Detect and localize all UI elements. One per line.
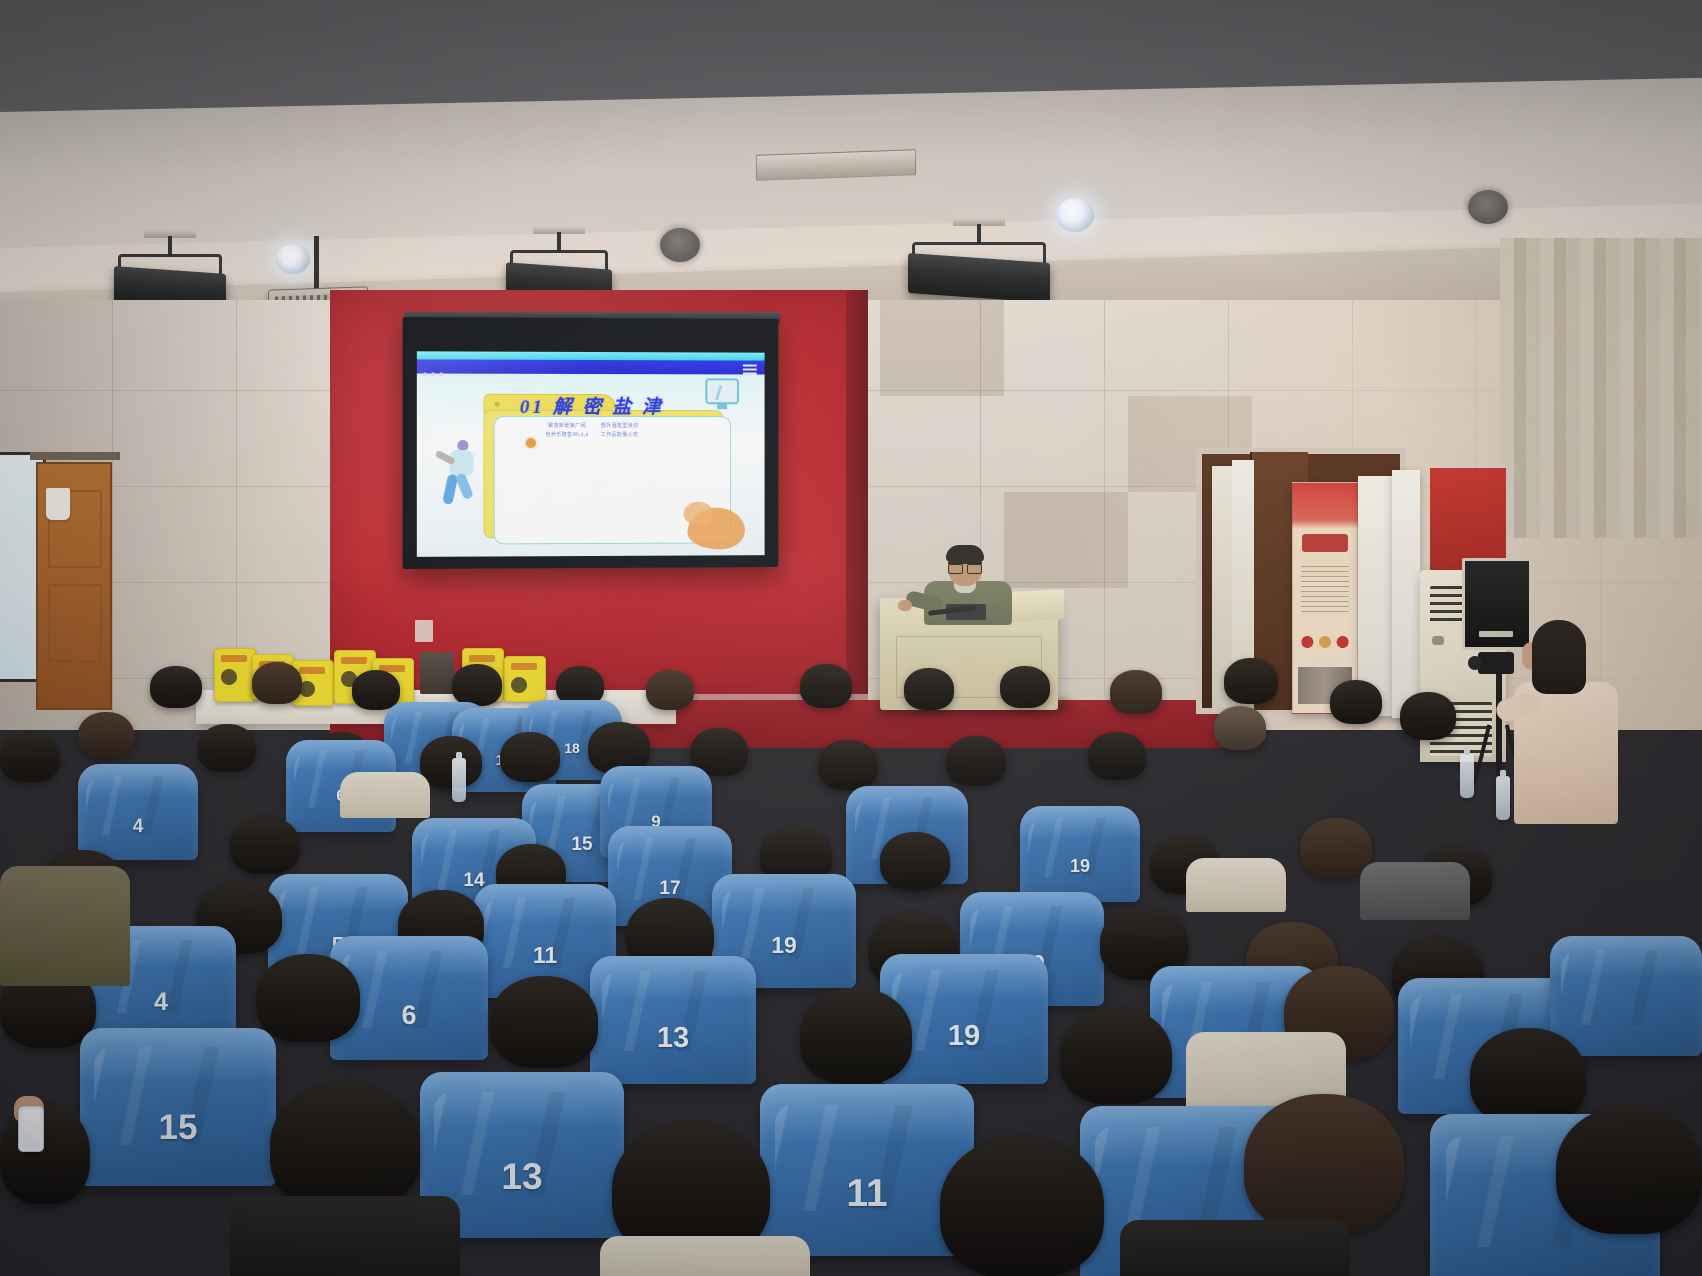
audience-head bbox=[800, 988, 912, 1084]
dot-2-icon bbox=[431, 373, 435, 377]
seat-number: 6 bbox=[401, 1000, 416, 1031]
projection-screen: 01 解 密 盐 津 聚落新景第广阔 包养乐赔售Wi,s,a 部外酒馆里浪动 工… bbox=[403, 317, 779, 569]
seat-number: 15 bbox=[159, 1108, 198, 1148]
water-bottle bbox=[1460, 754, 1474, 798]
audience-head bbox=[252, 662, 302, 704]
presenter-hand bbox=[898, 600, 912, 611]
audience-head bbox=[0, 732, 60, 782]
seat-number: 11 bbox=[846, 1172, 887, 1216]
glasses-icon bbox=[948, 562, 982, 570]
audience-head bbox=[452, 664, 502, 706]
projector-rod bbox=[314, 236, 319, 294]
audience-shoulder bbox=[600, 1236, 810, 1276]
audience-shoulder bbox=[1120, 1220, 1350, 1276]
audience-head bbox=[1330, 680, 1382, 724]
audience-head bbox=[1556, 1106, 1702, 1234]
orange-blob-graphic bbox=[684, 502, 714, 526]
audience-head bbox=[500, 732, 560, 782]
audience-head bbox=[352, 670, 400, 710]
poster-text-lines bbox=[1301, 566, 1350, 617]
audience-head bbox=[880, 832, 950, 890]
seat-number: 13 bbox=[657, 1022, 689, 1055]
light-stem bbox=[557, 232, 561, 252]
audience-head bbox=[490, 976, 598, 1068]
recessed-downlight bbox=[276, 244, 310, 274]
seat-number: 19 bbox=[948, 1020, 980, 1053]
audience-head bbox=[1088, 732, 1146, 780]
window-dots bbox=[423, 372, 443, 376]
slide-browser-titlebar bbox=[417, 359, 765, 374]
audience-head bbox=[230, 816, 300, 874]
recessed-downlight bbox=[1056, 198, 1094, 232]
audience-head bbox=[800, 664, 852, 708]
seat[interactable] bbox=[1550, 936, 1702, 1056]
wall-tile-shade bbox=[880, 300, 1004, 396]
audience-head bbox=[0, 1104, 90, 1204]
slide-subtitle: 聚落新景第广阔 包养乐赔售Wi,s,a 部外酒馆里浪动 工作品能量心忠 bbox=[417, 422, 765, 438]
audience-head bbox=[1000, 666, 1050, 708]
seat-number: 4 bbox=[154, 988, 168, 1017]
slide-subtitle-line-1: 聚落新景第广阔 bbox=[545, 422, 588, 429]
door-frame-header bbox=[30, 452, 120, 460]
audience-head bbox=[946, 736, 1006, 786]
water-bottle bbox=[1496, 776, 1510, 820]
seat-number: 19 bbox=[1070, 856, 1090, 877]
seat[interactable]: 15 bbox=[80, 1028, 276, 1186]
seat-number: 13 bbox=[501, 1156, 542, 1198]
slide-title: 01 解 密 盐 津 bbox=[417, 392, 765, 420]
audience-head bbox=[1300, 818, 1372, 878]
audience-head bbox=[1244, 1094, 1404, 1234]
audience-head bbox=[1060, 1008, 1172, 1104]
presenter-hair bbox=[946, 545, 984, 562]
projected-slide-area: 01 解 密 盐 津 聚落新景第广阔 包养乐赔售Wi,s,a 部外酒馆里浪动 工… bbox=[417, 351, 765, 557]
seat[interactable]: 4 bbox=[78, 764, 198, 860]
orange-dot-bullet bbox=[526, 438, 536, 448]
presentation-slide: 01 解 密 盐 津 聚落新景第广阔 包养乐赔售Wi,s,a 部外酒馆里浪动 工… bbox=[417, 351, 765, 557]
seat-number: 15 bbox=[571, 834, 592, 856]
audience-head bbox=[904, 668, 954, 710]
seat-number: 17 bbox=[659, 878, 680, 900]
hamburger-menu-icon bbox=[743, 365, 757, 375]
audience-head bbox=[420, 736, 482, 788]
dot-3-icon bbox=[439, 373, 443, 377]
audience-shoulder bbox=[230, 1196, 460, 1276]
audience-head bbox=[1470, 1028, 1586, 1126]
window-curtain bbox=[1500, 238, 1702, 538]
audience-head bbox=[150, 666, 202, 708]
audience-shoulder bbox=[1186, 858, 1286, 912]
light-stem bbox=[168, 236, 172, 256]
running-person-graphic bbox=[437, 440, 477, 514]
slide-subtitle-line-3: 包养乐赔售Wi,s,a bbox=[545, 431, 588, 438]
water-bottle bbox=[452, 758, 466, 802]
audience-head bbox=[940, 1136, 1104, 1276]
slide-subtitle-line-2: 部外酒馆里浪动 bbox=[601, 422, 639, 429]
audience-head bbox=[1110, 670, 1162, 714]
poster-badge bbox=[1302, 534, 1348, 552]
audience-shoulder bbox=[340, 772, 430, 818]
audience-head bbox=[818, 740, 878, 790]
audience-head bbox=[198, 724, 256, 772]
smartphone bbox=[18, 1106, 44, 1152]
auditorium-photo: 01 解 密 盐 津 聚落新景第广阔 包养乐赔售Wi,s,a 部外酒馆里浪动 工… bbox=[0, 0, 1702, 1276]
audience-seating-area: 11 15 18 6 15 9 5 bbox=[0, 636, 1702, 1276]
seat-number: 4 bbox=[133, 816, 144, 838]
audience-head bbox=[1400, 692, 1456, 740]
recessed-downlight bbox=[1468, 190, 1508, 224]
recessed-downlight bbox=[660, 228, 700, 262]
audience-shoulder bbox=[0, 866, 130, 986]
slide-subtitle-line-4: 工作品能量心忠 bbox=[601, 431, 639, 438]
audience-head bbox=[1224, 658, 1278, 704]
seat[interactable]: 19 bbox=[1020, 806, 1140, 902]
dot-1-icon bbox=[423, 372, 427, 376]
audience-head bbox=[78, 712, 134, 758]
seat-number: 19 bbox=[771, 932, 797, 959]
audience-shoulder bbox=[1360, 862, 1470, 920]
light-stem bbox=[977, 224, 981, 244]
phone-screen bbox=[22, 1110, 40, 1148]
audience-head bbox=[1214, 706, 1266, 750]
audience-head bbox=[646, 670, 694, 710]
audience-head bbox=[256, 954, 360, 1042]
paper-notice-on-door bbox=[46, 488, 70, 520]
seat[interactable]: 13 bbox=[590, 956, 756, 1084]
seat-number: 11 bbox=[533, 942, 557, 969]
audience-head bbox=[270, 1082, 420, 1212]
seat-number: 18 bbox=[564, 740, 580, 756]
